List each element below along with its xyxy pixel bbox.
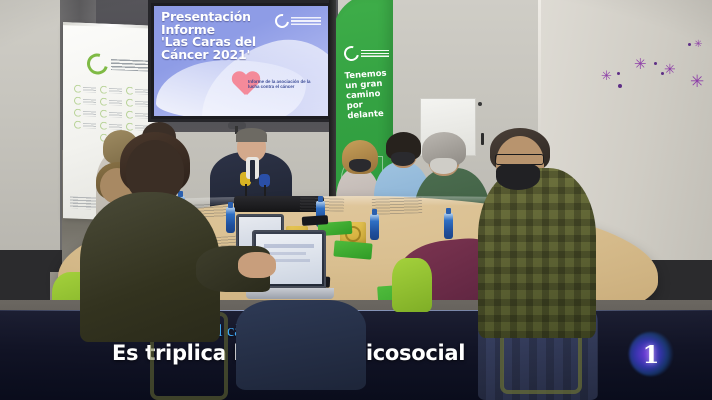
projection-screen: Presentación Informe 'Las Caras del Cánc… [148, 0, 334, 122]
slide-logo-wordmark [291, 17, 321, 25]
sponsor-logo [126, 99, 148, 108]
water-bottle [226, 207, 235, 233]
wall-decal-star-icon: ✳ [601, 69, 612, 82]
sponsor-logo [74, 97, 96, 106]
channel-number: 1 [629, 332, 673, 376]
slide-title-line4: Cáncer 2021' [161, 49, 283, 62]
slide-title: Presentación Informe 'Las Caras del Cánc… [161, 11, 283, 61]
sponsor-logo [74, 121, 96, 130]
face-mask-icon [496, 164, 540, 190]
sponsor-logo [100, 110, 122, 119]
logo-wordmark [111, 59, 149, 71]
paper-stack [372, 197, 423, 215]
wall-decal-star-icon: ✳ [634, 57, 647, 72]
person-speaker-tie [250, 160, 255, 182]
person-foreground-right-body [478, 168, 596, 338]
person-foreground-left-hand [238, 252, 276, 278]
wall-decal-dot [618, 84, 622, 88]
sponsor-logo [74, 85, 96, 94]
flag-claim-text: Tenemos un gran camino por delante [344, 69, 387, 122]
aecc-ring-logo [344, 46, 389, 61]
whiteboard-knob [478, 102, 482, 106]
slide-subtitle: Informe de la asociación de la lucha con… [248, 79, 322, 90]
wall-decal-dot [654, 62, 657, 65]
wall-decal-star-icon: ✳ [664, 62, 676, 76]
face-mask-icon [430, 158, 457, 174]
wall-decal-dot [688, 43, 691, 46]
wall-decal-star-icon: ✳ [694, 40, 702, 50]
wall-decal-dot [617, 72, 620, 75]
flag-pole [329, 0, 336, 208]
aecc-ring-logo [87, 53, 149, 76]
sponsor-logo [126, 111, 148, 120]
mobile-phone [302, 215, 329, 226]
channel-logo-bug: 1 [629, 332, 673, 376]
green-chair [392, 258, 432, 312]
ring-icon [83, 50, 112, 78]
flag-logo-wordmark [361, 50, 389, 58]
person-foreground-left-lower-body [236, 300, 366, 390]
person-speaker-hair [236, 128, 267, 142]
sponsor-logo [100, 98, 122, 107]
whiteboard-marker [481, 133, 484, 145]
broadcast-screenshot: Presentación Informe 'Las Caras del Cánc… [0, 0, 712, 400]
sponsor-logo [100, 86, 122, 95]
water-bottle [444, 213, 453, 239]
sponsor-logo [74, 109, 96, 118]
wall-decal-star-icon: ✳ [690, 73, 704, 90]
sponsor-logo [126, 87, 148, 96]
face-mask-icon [391, 152, 415, 166]
presentation-slide: Presentación Informe 'Las Caras del Cánc… [154, 6, 328, 116]
face-mask-icon [349, 159, 371, 172]
green-folder [333, 240, 372, 259]
water-bottle [370, 214, 379, 240]
ring-icon [341, 43, 361, 63]
